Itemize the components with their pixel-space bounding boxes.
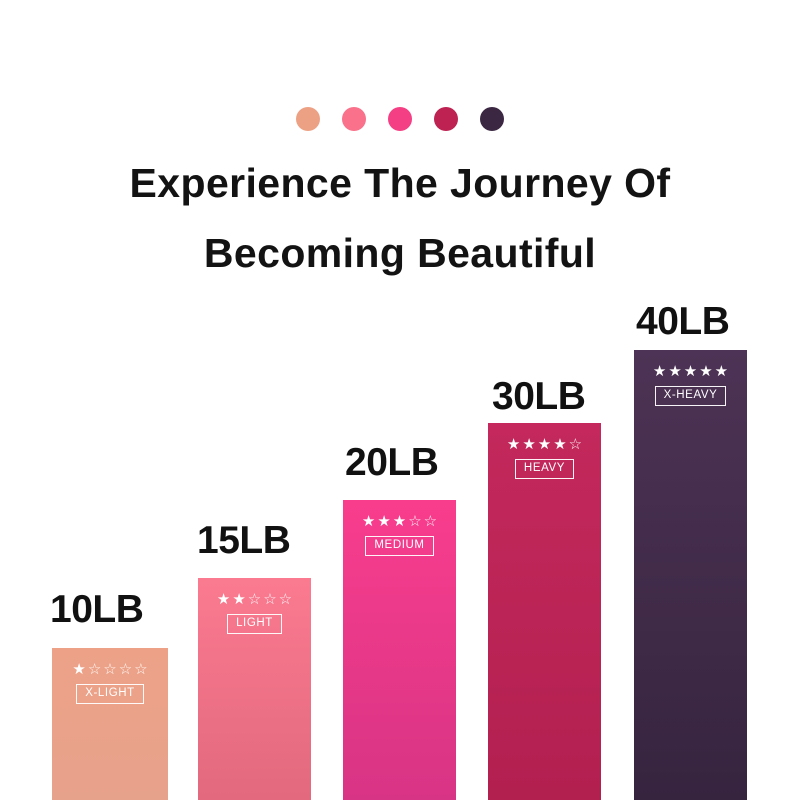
bar-group-10lb[interactable]: 10LB★☆☆☆☆X-LIGHT <box>52 648 168 800</box>
bar-content: ★★★☆☆MEDIUM <box>343 500 456 556</box>
bar-30lb[interactable]: ★★★★☆HEAVY <box>488 423 601 800</box>
bar-content: ★★★★★X-HEAVY <box>634 350 747 406</box>
star-filled-icon: ★ <box>362 514 375 529</box>
bar-weight-label-15lb: 15LB <box>197 521 290 560</box>
bar-40lb[interactable]: ★★★★★X-HEAVY <box>634 350 747 800</box>
bar-10lb[interactable]: ★☆☆☆☆X-LIGHT <box>52 648 168 800</box>
star-filled-icon: ★ <box>684 364 697 379</box>
bar-content: ★☆☆☆☆X-LIGHT <box>52 648 168 704</box>
star-filled-icon: ★ <box>653 364 666 379</box>
resistance-bar-chart: 10LB★☆☆☆☆X-LIGHT15LB★★☆☆☆LIGHT20LB★★★☆☆M… <box>0 0 800 800</box>
bar-weight-label-20lb: 20LB <box>345 443 438 482</box>
star-filled-icon: ★ <box>699 364 712 379</box>
bar-content: ★★★★☆HEAVY <box>488 423 601 479</box>
bar-group-20lb[interactable]: 20LB★★★☆☆MEDIUM <box>343 500 456 800</box>
star-empty-icon: ☆ <box>88 662 101 677</box>
bar-20lb[interactable]: ★★★☆☆MEDIUM <box>343 500 456 800</box>
bar-weight-label-10lb: 10LB <box>50 590 143 629</box>
bar-group-40lb[interactable]: 40LB★★★★★X-HEAVY <box>634 350 747 800</box>
bar-15lb[interactable]: ★★☆☆☆LIGHT <box>198 578 311 800</box>
star-empty-icon: ☆ <box>248 592 261 607</box>
level-badge-x-heavy: X-HEAVY <box>655 386 727 406</box>
star-filled-icon: ★ <box>715 364 728 379</box>
bar-group-15lb[interactable]: 15LB★★☆☆☆LIGHT <box>198 578 311 800</box>
level-badge-light: LIGHT <box>227 614 282 634</box>
level-badge-heavy: HEAVY <box>515 459 574 479</box>
star-empty-icon: ☆ <box>424 514 437 529</box>
bar-weight-label-40lb: 40LB <box>636 302 729 341</box>
bar-group-30lb[interactable]: 30LB★★★★☆HEAVY <box>488 423 601 800</box>
star-filled-icon: ★ <box>217 592 230 607</box>
star-filled-icon: ★ <box>668 364 681 379</box>
star-empty-icon: ☆ <box>103 662 116 677</box>
star-filled-icon: ★ <box>232 592 245 607</box>
infographic-canvas: Experience The Journey Of Becoming Beaut… <box>0 0 800 800</box>
bar-content: ★★☆☆☆LIGHT <box>198 578 311 634</box>
star-filled-icon: ★ <box>377 514 390 529</box>
star-empty-icon: ☆ <box>408 514 421 529</box>
star-empty-icon: ☆ <box>263 592 276 607</box>
star-rating: ★★★★★ <box>653 364 728 379</box>
star-filled-icon: ★ <box>393 514 406 529</box>
star-filled-icon: ★ <box>72 662 85 677</box>
star-filled-icon: ★ <box>553 437 566 452</box>
star-filled-icon: ★ <box>522 437 535 452</box>
star-empty-icon: ☆ <box>569 437 582 452</box>
star-rating: ★★★☆☆ <box>362 514 437 529</box>
level-badge-x-light: X-LIGHT <box>76 684 144 704</box>
star-empty-icon: ☆ <box>279 592 292 607</box>
star-rating: ★★★★☆ <box>507 437 582 452</box>
star-rating: ★☆☆☆☆ <box>72 662 147 677</box>
star-empty-icon: ☆ <box>134 662 147 677</box>
level-badge-medium: MEDIUM <box>365 536 433 556</box>
star-empty-icon: ☆ <box>119 662 132 677</box>
star-filled-icon: ★ <box>507 437 520 452</box>
bar-weight-label-30lb: 30LB <box>492 377 585 416</box>
star-rating: ★★☆☆☆ <box>217 592 292 607</box>
star-filled-icon: ★ <box>538 437 551 452</box>
